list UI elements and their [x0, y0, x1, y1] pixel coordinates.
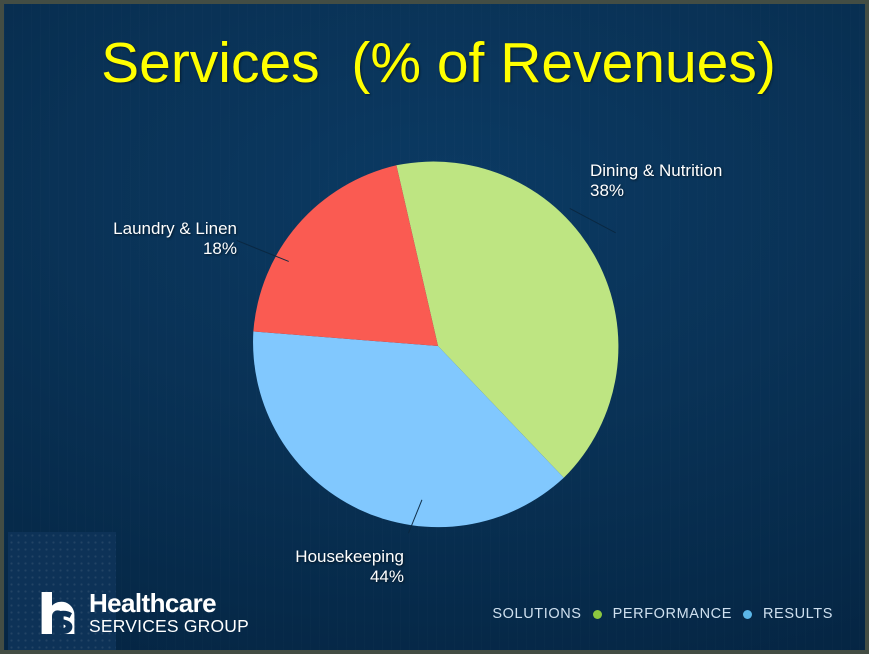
pie-label-laundry-linen: Laundry & Linen 18% — [79, 219, 237, 259]
pie-label-housekeeping: Housekeeping 44% — [244, 547, 404, 587]
pie-label-laundry-name: Laundry & Linen — [113, 219, 237, 238]
logo-name: Healthcare — [89, 590, 249, 616]
logo-subtitle: SERVICES GROUP — [89, 618, 249, 636]
tagline-blue-dot-icon — [743, 610, 752, 619]
pie-label-housekeeping-name: Housekeeping — [295, 547, 404, 566]
slide: Services (% of Revenues) Dining & Nutrit… — [0, 0, 869, 654]
pie-label-dining-nutrition: Dining & Nutrition 38% — [590, 161, 722, 201]
pie-label-dining-name: Dining & Nutrition — [590, 161, 722, 180]
tagline-green-dot-icon — [593, 610, 602, 619]
footer-tagline: SOLUTIONS PERFORMANCE RESULTS — [492, 606, 833, 622]
company-logo: Healthcare SERVICES GROUP — [40, 590, 249, 636]
pie-label-housekeeping-percent: 44% — [244, 567, 404, 587]
pie-label-laundry-percent: 18% — [79, 239, 237, 259]
pie-label-dining-percent: 38% — [590, 181, 722, 201]
logo-wordmark: Healthcare SERVICES GROUP — [89, 590, 249, 636]
tagline-solutions: SOLUTIONS — [492, 606, 581, 622]
hsg-monogram-icon — [40, 592, 80, 634]
pie-chart-svg — [253, 161, 623, 531]
pie-chart — [253, 161, 623, 531]
page-title: Services (% of Revenues) — [4, 30, 869, 96]
tagline-performance: PERFORMANCE — [613, 606, 732, 622]
tagline-results: RESULTS — [763, 606, 833, 622]
